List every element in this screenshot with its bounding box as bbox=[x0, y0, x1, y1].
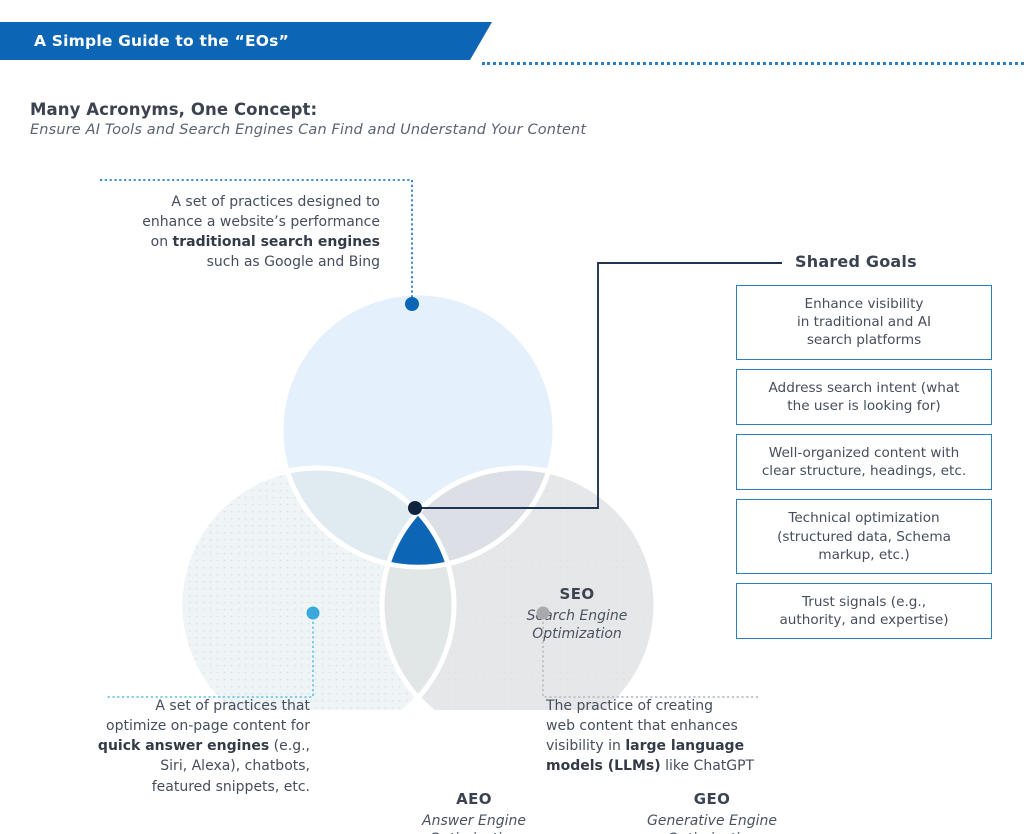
shared-goal-2-l2: clear structure, headings, etc. bbox=[762, 463, 966, 479]
callout-seo-l2: enhance a website’s performance bbox=[142, 214, 380, 230]
venn-full-geo-l1: Generative Engine bbox=[647, 813, 777, 829]
shared-goal-item[interactable]: Well-organized content with clear struct… bbox=[736, 434, 992, 490]
venn-full-seo: Search Engine Optimization bbox=[472, 607, 682, 644]
venn-full-seo-l1: Search Engine bbox=[527, 608, 628, 624]
shared-goal-item[interactable]: Technical optimization (structured data,… bbox=[736, 499, 992, 574]
callout-aeo-l1: A set of practices that bbox=[155, 698, 310, 714]
venn-abbr-aeo: AEO bbox=[369, 790, 579, 808]
callout-aeo-l3-bold: quick answer engines bbox=[98, 738, 269, 754]
callout-seo: A set of practices designed to enhance a… bbox=[80, 192, 380, 273]
intro-block: Many Acronyms, One Concept: Ensure AI To… bbox=[30, 100, 790, 138]
callout-geo-l3-pre: visibility in bbox=[546, 738, 625, 754]
shared-goal-item[interactable]: Enhance visibility in traditional and AI… bbox=[736, 285, 992, 360]
callout-seo-l1: A set of practices designed to bbox=[171, 194, 380, 210]
callout-geo-l1: The practice of creating bbox=[546, 698, 713, 714]
shared-goal-3-l2: (structured data, Schema bbox=[777, 529, 951, 545]
callout-seo-l3-pre: on bbox=[151, 234, 173, 250]
callout-geo: The practice of creating web content tha… bbox=[546, 696, 808, 777]
callout-aeo-l4: Siri, Alexa), chatbots, bbox=[160, 758, 310, 774]
callout-aeo: A set of practices that optimize on-page… bbox=[50, 696, 310, 797]
shared-goals-heading: Shared Goals bbox=[795, 252, 917, 271]
venn-label-seo: SEO Search Engine Optimization bbox=[472, 585, 682, 644]
page-subtitle: Ensure AI Tools and Search Engines Can F… bbox=[30, 122, 790, 138]
shared-goal-1-l1: Address search intent (what bbox=[769, 380, 960, 396]
shared-goal-4-l1: Trust signals (e.g., bbox=[802, 594, 926, 610]
venn-full-geo: Generative Engine Optimization bbox=[607, 812, 817, 834]
shared-goal-0-l1: Enhance visibility bbox=[805, 296, 924, 312]
venn-diagram: SEO Search Engine Optimization AEO Answe… bbox=[160, 265, 680, 710]
header-banner: A Simple Guide to the “EOs” bbox=[0, 22, 1024, 60]
banner-title: A Simple Guide to the “EOs” bbox=[34, 22, 289, 60]
shared-goal-3-l3: markup, etc.) bbox=[818, 547, 909, 563]
shared-goal-1-l2: the user is looking for) bbox=[787, 398, 940, 414]
shared-goal-item[interactable]: Trust signals (e.g., authority, and expe… bbox=[736, 583, 992, 639]
shared-goals-list: Enhance visibility in traditional and AI… bbox=[736, 285, 992, 648]
shared-goal-4-l2: authority, and expertise) bbox=[779, 612, 948, 628]
shared-goal-3-l1: Technical optimization bbox=[788, 510, 939, 526]
callout-geo-l2: web content that enhances bbox=[546, 718, 738, 734]
callout-seo-l3-bold: traditional search engines bbox=[173, 234, 380, 250]
shared-goal-2-l1: Well-organized content with bbox=[769, 445, 959, 461]
venn-full-aeo: Answer Engine Optimization bbox=[369, 812, 579, 834]
venn-label-geo: GEO Generative Engine Optimization bbox=[607, 790, 817, 834]
venn-full-seo-l2: Optimization bbox=[532, 626, 622, 642]
banner-dotted-rule bbox=[482, 62, 1024, 65]
page-title: Many Acronyms, One Concept: bbox=[30, 100, 790, 119]
callout-seo-l4: such as Google and Bing bbox=[207, 254, 380, 270]
callout-aeo-l5: featured snippets, etc. bbox=[152, 779, 310, 795]
callout-geo-l4-bold: models (LLMs) bbox=[546, 758, 661, 774]
callout-aeo-l3-post: (e.g., bbox=[269, 738, 310, 754]
shared-goal-0-l2: in traditional and AI bbox=[797, 314, 931, 330]
callout-aeo-l2: optimize on-page content for bbox=[106, 718, 310, 734]
venn-full-aeo-l1: Answer Engine bbox=[422, 813, 526, 829]
callout-geo-l4-post: like ChatGPT bbox=[661, 758, 754, 774]
venn-abbr-geo: GEO bbox=[607, 790, 817, 808]
infographic-page: A Simple Guide to the “EOs” Many Acronym… bbox=[0, 0, 1024, 834]
shared-goal-item[interactable]: Address search intent (what the user is … bbox=[736, 369, 992, 425]
venn-abbr-seo: SEO bbox=[472, 585, 682, 603]
shared-goal-0-l3: search platforms bbox=[807, 332, 921, 348]
venn-label-aeo: AEO Answer Engine Optimization bbox=[369, 790, 579, 834]
callout-geo-l3-bold: large language bbox=[625, 738, 744, 754]
